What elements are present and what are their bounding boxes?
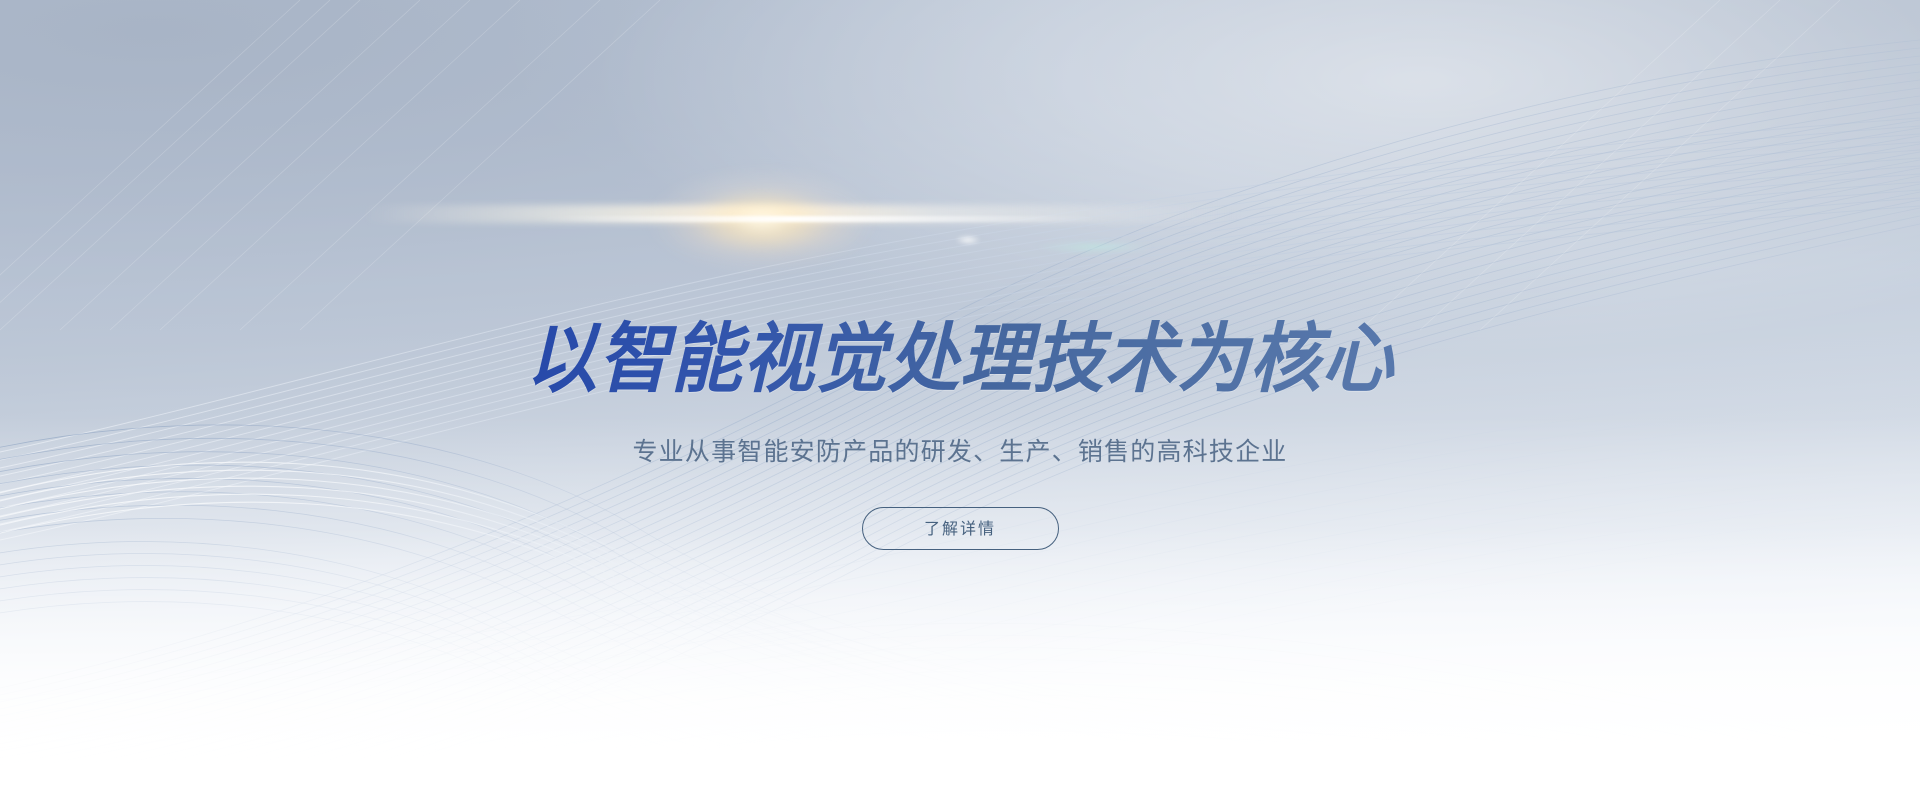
hero-banner: 以智能视觉处理技术为核心 专业从事智能安防产品的研发、生产、销售的高科技企业 了… — [0, 0, 1920, 800]
learn-more-button[interactable]: 了解详情 — [862, 507, 1059, 550]
hero-subtitle: 专业从事智能安防产品的研发、生产、销售的高科技企业 — [0, 434, 1920, 470]
hero-content: 以智能视觉处理技术为核心 专业从事智能安防产品的研发、生产、销售的高科技企业 了… — [0, 0, 1920, 800]
hero-cta-container: 了解详情 — [0, 507, 1920, 550]
hero-headline: 以智能视觉处理技术为核心 — [58, 317, 1863, 401]
